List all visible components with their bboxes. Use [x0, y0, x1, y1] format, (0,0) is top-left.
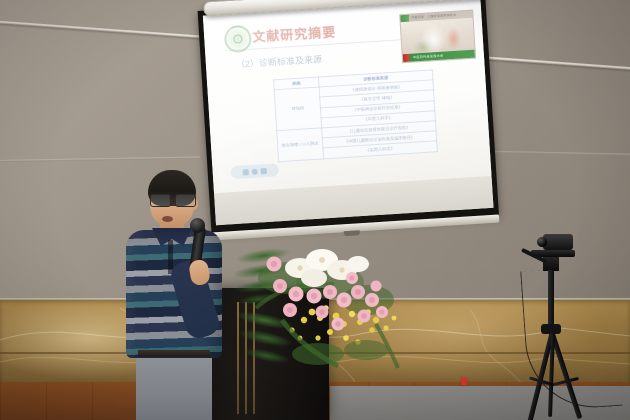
screen-bottom-hook: [344, 230, 360, 236]
projection-screen: 文献研究摘要 （2）诊断标准及来源 疾病 诊断标准来源 哮喘病 《诸病源候论·咳…: [197, 0, 500, 246]
table-cell-disease-2: 肺炎喘嗽 / 小儿肺炎: [277, 128, 324, 161]
video-top-caption: 中医科普 · 儿童呼吸道疾病防治: [411, 12, 456, 19]
watermark-square-icon: [261, 167, 267, 173]
projected-slide: 文献研究摘要 （2）诊断标准及来源 疾病 诊断标准来源 哮喘病 《诸病源候论·咳…: [203, 0, 492, 193]
video-bottom-caption: 中医药传承发展大会: [413, 53, 444, 60]
watermark-square-icon: [243, 169, 249, 175]
video-frame-image: [401, 18, 475, 54]
glasses-bridge: [169, 198, 175, 199]
floral-arrangement: [226, 242, 418, 378]
watermark-circle-icon: [252, 168, 258, 174]
table-cell-disease-1: 哮喘病: [274, 87, 321, 130]
video-camera-on-tripod: [519, 232, 625, 420]
camcorder-body: [543, 234, 573, 250]
glasses-icon: [149, 194, 197, 205]
glasses-right-lens: [175, 194, 196, 207]
slide-title: 文献研究摘要: [252, 17, 413, 46]
glasses-left-lens: [150, 194, 171, 207]
photo-scene: 文献研究摘要 （2）诊断标准及来源 疾病 诊断标准来源 哮喘病 《诸病源候论·咳…: [0, 0, 630, 420]
camera-lens-icon: [537, 237, 547, 247]
tripod-center-column: [548, 270, 554, 328]
embedded-video-clip: 中医科普 · 儿童呼吸道疾病防治 中医药传承发展大会: [399, 10, 476, 64]
tripod-spider: [541, 324, 561, 334]
speaker-trousers: [136, 354, 212, 420]
flower-cluster: [226, 242, 418, 378]
speaker-belt: [138, 350, 210, 357]
slide-table: 疾病 诊断标准来源 哮喘病 《诸病源候论·咳嗽诸病候》 《医学正传·哮喘》 《中…: [273, 69, 438, 161]
speaker-mouth: [162, 216, 173, 222]
red-floor-marker: [461, 378, 467, 385]
